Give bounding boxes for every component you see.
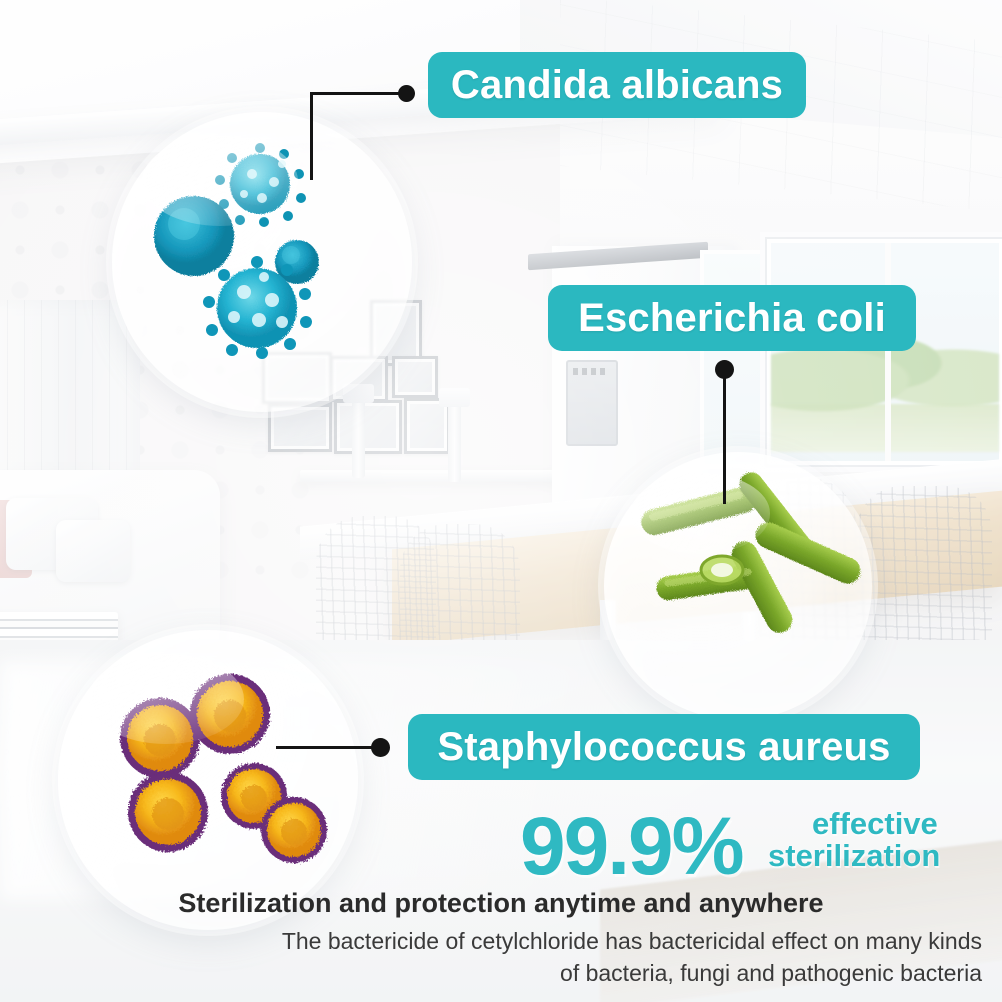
- connector-line-ecoli: [723, 372, 726, 504]
- label-candida-albicans[interactable]: Candida albicans: [428, 52, 806, 118]
- sterilization-word: sterilization: [768, 838, 940, 873]
- effective-line-1: effective: [812, 808, 938, 840]
- fungus-cells-icon: [112, 112, 412, 412]
- label-staph-text: Staphylococcus aureus: [437, 725, 890, 770]
- connector-line-staph: [276, 746, 380, 749]
- effective-word: effective: [812, 806, 938, 841]
- effective-line-2: sterilization: [768, 840, 940, 872]
- connector-line-candida-horizontal: [310, 92, 406, 95]
- connector-dot-staph: [371, 738, 390, 757]
- connector-line-candida-vertical: [310, 92, 313, 180]
- label-candida-text: Candida albicans: [451, 63, 783, 108]
- description-line-1: The bactericide of cetylchloride has bac…: [0, 926, 982, 957]
- label-staphylococcus-aureus[interactable]: Staphylococcus aureus: [408, 714, 920, 780]
- tagline-text: Sterilization and protection anytime and…: [178, 888, 823, 918]
- description-text-2: of bacteria, fungi and pathogenic bacter…: [560, 960, 982, 986]
- percent-claim: 99.9%: [520, 800, 743, 894]
- magnifier-bubble-candida: [112, 112, 412, 412]
- description-text-1: The bactericide of cetylchloride has bac…: [282, 928, 982, 954]
- product-infographic: Candida albicans Escherichia coli Staphy…: [0, 0, 1002, 1002]
- connector-dot-ecoli: [715, 360, 734, 379]
- magnifier-bubble-staph: [58, 630, 358, 930]
- cocci-cluster-icon: [58, 630, 358, 930]
- connector-dot-candida: [398, 85, 415, 102]
- label-escherichia-coli[interactable]: Escherichia coli: [548, 285, 916, 351]
- label-ecoli-text: Escherichia coli: [578, 296, 886, 341]
- percent-value: 99.9%: [520, 801, 743, 892]
- tagline: Sterilization and protection anytime and…: [0, 888, 1002, 919]
- rod-bacteria-icon: [604, 452, 872, 720]
- magnifier-bubble-ecoli: [604, 452, 872, 720]
- description-line-2: of bacteria, fungi and pathogenic bacter…: [0, 958, 982, 989]
